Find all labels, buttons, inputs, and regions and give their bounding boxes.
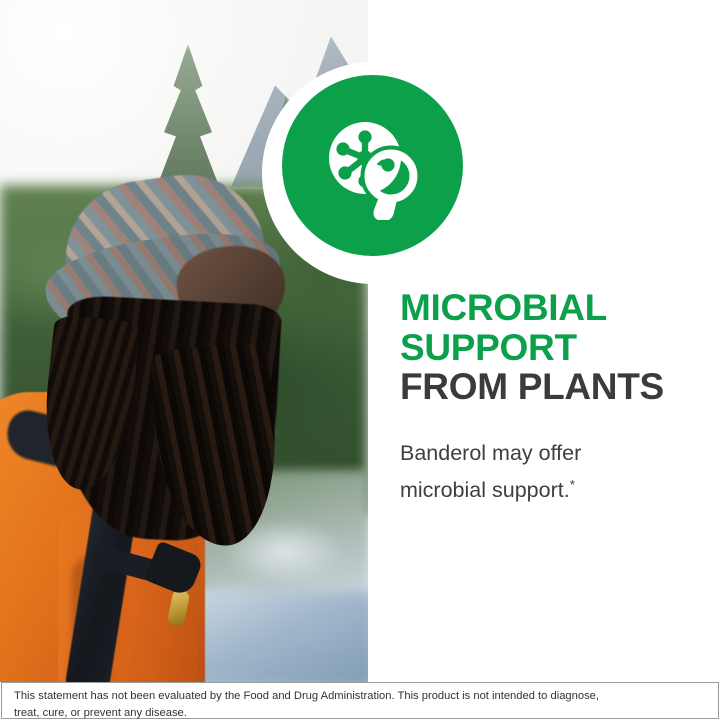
message-block: MICROBIAL SUPPORT FROM PLANTS Banderol m… — [400, 288, 700, 509]
subcopy: Banderol may offer microbial support.* — [400, 435, 700, 509]
fda-disclaimer: This statement has not been evaluated by… — [1, 682, 719, 719]
headline-line-1: MICROBIAL — [400, 288, 700, 328]
headline: MICROBIAL SUPPORT FROM PLANTS — [400, 288, 700, 407]
subcopy-line-2-text: microbial support. — [400, 478, 570, 502]
disclaimer-line-2: treat, cure, or prevent any disease. — [14, 705, 710, 720]
subcopy-line-1: Banderol may offer — [400, 435, 700, 472]
promo-card: MICROBIAL SUPPORT FROM PLANTS Banderol m… — [0, 0, 720, 720]
footnote-marker: * — [570, 477, 575, 492]
subcopy-line-2: microbial support.* — [400, 472, 700, 509]
photo-stream-water — [185, 592, 368, 682]
headline-line-2: SUPPORT — [400, 328, 700, 368]
headline-line-3: FROM PLANTS — [400, 367, 700, 407]
disclaimer-line-1: This statement has not been evaluated by… — [14, 688, 710, 705]
microbe-magnifier-icon — [282, 75, 463, 256]
